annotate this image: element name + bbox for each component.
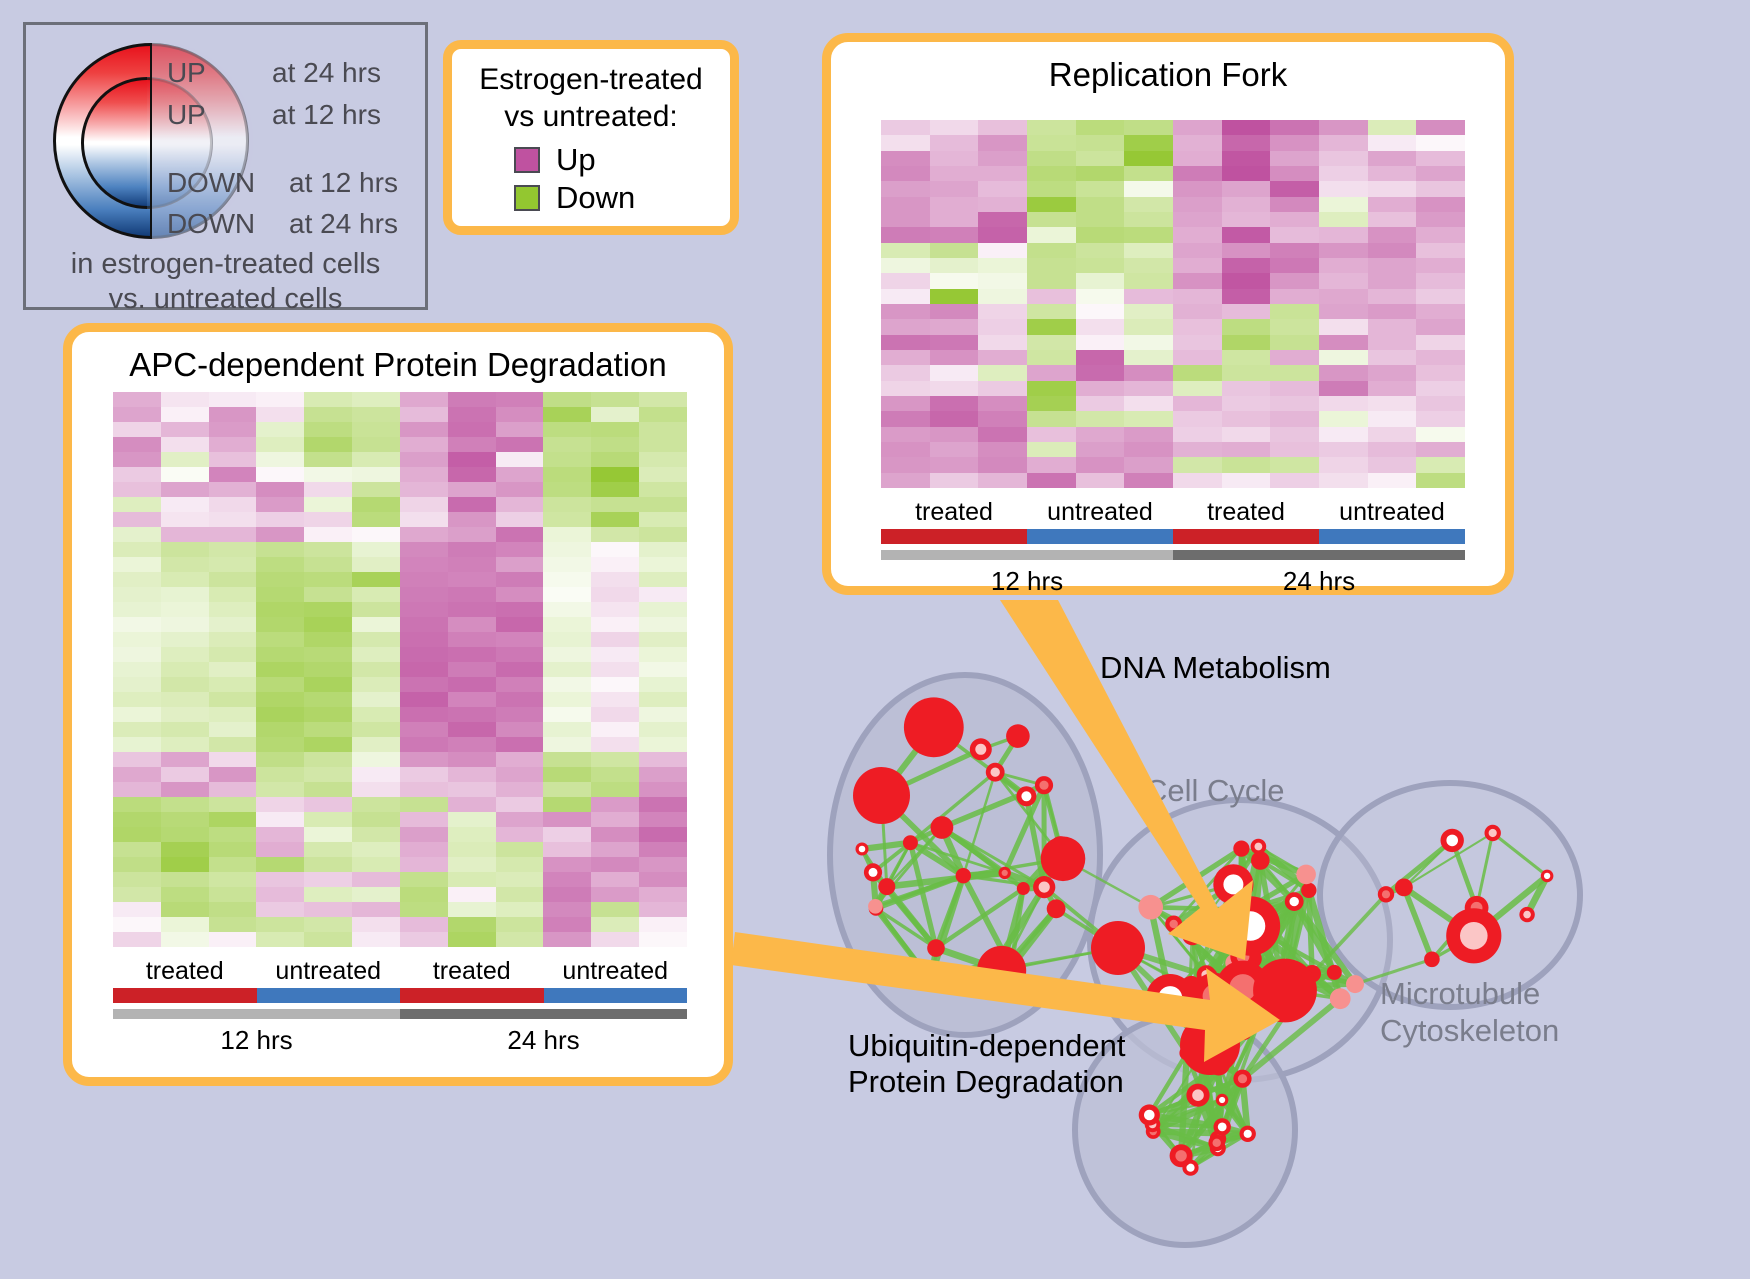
heatmap-cell [304,617,352,632]
heatmap-cell [448,647,496,662]
heatmap-cell [1027,319,1076,334]
heatmap-cell [1416,135,1465,150]
heatmap-cell [1173,457,1222,472]
heatmap-cell [1027,243,1076,258]
heatmap-cell [209,407,257,422]
heatmap-cell [1124,273,1173,288]
heatmap-cell [448,497,496,512]
network-node-core [975,744,986,755]
heatmap-cell [930,273,979,288]
heatmap-cell [304,557,352,572]
heatmap-cell [400,692,448,707]
heatmap-cell [256,437,304,452]
heatmap-cell [496,737,544,752]
heatmap-cell [209,512,257,527]
heatmap-cell [304,527,352,542]
heatmap-cell [496,887,544,902]
time-labels: 12 hrs 24 hrs [113,1025,687,1056]
heatmap-cell [1222,304,1271,319]
heatmap-cell [209,647,257,662]
network-node [1233,841,1249,857]
network-node [1138,895,1163,920]
bar-treated-12 [881,529,1027,544]
heatmap-cell [1027,335,1076,350]
heatmap-cell [352,422,400,437]
heatmap-cell [352,902,400,917]
heatmap-cell [978,365,1027,380]
heatmap-cell [1416,411,1465,426]
heatmap-cell [496,857,544,872]
network-node [1346,975,1364,993]
heatmap-cell [352,527,400,542]
network-node-core [1238,1074,1247,1083]
heatmap-cell [978,151,1027,166]
heatmap-cell [496,917,544,932]
heatmap-cell [639,482,687,497]
heatmap-cell [1173,473,1222,488]
heatmap-cell [930,166,979,181]
heatmap-cell [448,557,496,572]
heatmap-cell [543,692,591,707]
heatmap-cell [113,887,161,902]
heatmap-cell [1319,289,1368,304]
heatmap-cell [1319,243,1368,258]
heatmap-cell [400,722,448,737]
updown-title-line-2: vs untreated: [452,98,730,135]
heatmap-cell [1173,120,1222,135]
treatment-color-bar [881,529,1465,544]
heatmap-cell [1124,135,1173,150]
heatmap-cell [113,617,161,632]
heatmap-cell [591,482,639,497]
heatmap-cell [591,617,639,632]
heatmap-cell [304,602,352,617]
heatmap-cell [591,722,639,737]
heatmap-cell [1319,411,1368,426]
heatmap-cell [591,692,639,707]
heatmap-cell [256,512,304,527]
heatmap-cell [1124,227,1173,242]
heatmap-cell [881,381,930,396]
heatmap-cell [448,587,496,602]
heatmap-cell [1173,319,1222,334]
heatmap-cell [256,707,304,722]
heatmap-cell [496,692,544,707]
heatmap-cell [352,437,400,452]
heatmap-cell [591,857,639,872]
heatmap-cell [256,797,304,812]
heatmap-cell [1368,120,1417,135]
network-node [1006,724,1030,748]
heatmap-cell [1173,273,1222,288]
heatmap-cell [1076,335,1125,350]
heatmap-cell [1270,120,1319,135]
heatmap-cell [304,902,352,917]
heatmap-cell [1076,427,1125,442]
heatmap-cell [1416,289,1465,304]
heatmap-cell [1368,166,1417,181]
heatmap-cell [1416,151,1465,166]
heatmap-cell [448,602,496,617]
heatmap-cell [352,542,400,557]
heatmap-cell [639,812,687,827]
heatmap-cell [1368,289,1417,304]
heatmap-cell [639,392,687,407]
heatmap-cell [304,797,352,812]
heatmap-cell [448,722,496,737]
heatmap-cell [930,319,979,334]
group-label-treated-12: treated [113,957,257,986]
heatmap-cell [543,467,591,482]
heatmap-cell [113,752,161,767]
network-node [1041,837,1086,882]
time-color-bar [881,550,1465,560]
heatmap-cell [113,482,161,497]
heatmap-cell [591,557,639,572]
heatmap-cell [1319,442,1368,457]
bar-treated-24 [1173,529,1319,544]
heatmap-cell [496,782,544,797]
heatmap-cell [1270,319,1319,334]
network-node-core [1213,1139,1221,1147]
network-node-core [1021,791,1031,801]
heatmap-cell [543,392,591,407]
heatmap-cell [1270,151,1319,166]
heatmap-cell [209,722,257,737]
heatmap-cell [496,422,544,437]
heatmap-cell [400,527,448,542]
heatmap-cell [1076,319,1125,334]
network-node-core [859,846,866,853]
heatmap-cell [113,662,161,677]
heatmap-cell [352,497,400,512]
heatmap-cell [978,381,1027,396]
bar-time-24 [400,1009,687,1019]
heatmap-cell [256,542,304,557]
heatmap-cell [209,677,257,692]
heatmap-cell [496,767,544,782]
heatmap-cell [1222,411,1271,426]
heatmap-cell [1076,473,1125,488]
cluster-label-ubiquitin-dependent-protein-degradation: Ubiquitin-dependentProtein Degradation [848,1028,1126,1100]
heatmap-cell [639,722,687,737]
heatmap-cell [1270,473,1319,488]
heatmap-cell [1173,166,1222,181]
heatmap-cell [591,587,639,602]
heatmap-cell [1319,120,1368,135]
updown-title-line-1: Estrogen-treated [452,61,730,98]
heatmap-cell [978,289,1027,304]
panel-title-replication-fork: Replication Fork [831,56,1505,94]
bar-untreated-12 [1027,529,1173,544]
heatmap-cell [161,692,209,707]
heatmap-cell [400,647,448,662]
heatmap-cell [352,707,400,722]
heatmap-cell [639,857,687,872]
figure-root: UP at 24 hrs UP at 12 hrs DOWN at 12 hrs… [0,0,1750,1279]
heatmap-cell [1173,227,1222,242]
heatmap-cell [930,381,979,396]
heatmap-cell [591,872,639,887]
heatmap-cell [161,707,209,722]
group-label-untreated-24: untreated [1319,498,1465,527]
heatmap-apc [113,392,687,947]
heatmap-cell [113,812,161,827]
heatmap-cell [113,437,161,452]
heatmap-cell [978,457,1027,472]
heatmap-cell [400,392,448,407]
heatmap-cell [161,857,209,872]
heatmap-cell [1173,350,1222,365]
heatmap-cell [543,767,591,782]
heatmap-cell [881,457,930,472]
heatmap-cell [1416,427,1465,442]
heatmap-cell [591,392,639,407]
heatmap-cell [1368,243,1417,258]
heatmap-cell [161,527,209,542]
heatmap-cell [1173,442,1222,457]
heatmap-cell [930,151,979,166]
heatmap-cell [496,392,544,407]
heatmap-cell [1124,166,1173,181]
network-node-core [991,768,1000,777]
heatmap-cell [256,827,304,842]
heatmap-cell [256,647,304,662]
heatmap-cell [1270,135,1319,150]
heatmap-cell [161,677,209,692]
heatmap-cell [400,767,448,782]
heatmap-cell [591,842,639,857]
heatmap-cell [591,602,639,617]
heatmap-cell [1173,151,1222,166]
heatmap-cell [161,767,209,782]
network-node [927,939,945,957]
heatmap-cell [496,482,544,497]
heatmap-cell [543,902,591,917]
heatmap-cell [1124,319,1173,334]
heatmap-cell [496,542,544,557]
heatmap-cell [1173,181,1222,196]
heatmap-cell [113,452,161,467]
heatmap-cell [352,857,400,872]
scale-label-up-12: UP [167,99,206,131]
heatmap-cell [930,289,979,304]
heatmap-cell [400,917,448,932]
heatmap-cell [496,932,544,947]
legend-item-down: Down [514,179,730,217]
heatmap-cell [209,887,257,902]
heatmap-cell [256,497,304,512]
color-scale-legend: UP at 24 hrs UP at 12 hrs DOWN at 12 hrs… [23,22,428,310]
heatmap-cell [1124,151,1173,166]
heatmap-cell [591,512,639,527]
network-node [1091,921,1145,975]
heatmap-cell [352,842,400,857]
heatmap-cell [881,273,930,288]
heatmap-cell [113,872,161,887]
heatmap-cell [448,662,496,677]
heatmap-cell [978,319,1027,334]
network-node-core [1523,911,1531,919]
heatmap-cell [591,677,639,692]
heatmap-cell [1124,181,1173,196]
heatmap-cell [881,135,930,150]
heatmap-cell [256,482,304,497]
heatmap-cell [1368,273,1417,288]
network-node [878,878,895,895]
heatmap-cell [256,587,304,602]
heatmap-cell [448,857,496,872]
heatmap-cell [113,407,161,422]
heatmap-cell [543,407,591,422]
heatmap-cell [1368,227,1417,242]
heatmap-cell [1124,427,1173,442]
heatmap-cell [591,467,639,482]
heatmap-cell [161,482,209,497]
heatmap-cell [1027,289,1076,304]
heatmap-cell [881,427,930,442]
heatmap-cell [448,827,496,842]
heatmap-cell [352,587,400,602]
heatmap-cell [930,365,979,380]
heatmap-cell [209,752,257,767]
heatmap-cell [543,872,591,887]
heatmap-cell [639,587,687,602]
heatmap-cell [352,887,400,902]
heatmap-cell [209,872,257,887]
heatmap-cell [161,647,209,662]
heatmap-cell [1416,212,1465,227]
heatmap-cell [1124,212,1173,227]
heatmap-cell [113,557,161,572]
heatmap-cell [1416,166,1465,181]
heatmap-cell [639,452,687,467]
heatmap-cell [1416,120,1465,135]
heatmap-cell [1368,396,1417,411]
axis-apc: treated untreated treated untreated 12 h… [113,957,687,1056]
heatmap-cell [978,243,1027,258]
network-node-core [1244,1130,1252,1138]
heatmap-cell [1222,289,1271,304]
heatmap-cell [543,932,591,947]
heatmap-cell [591,662,639,677]
heatmap-cell [1319,258,1368,273]
heatmap-cell [1368,350,1417,365]
heatmap-cell [304,542,352,557]
heatmap-cell [400,467,448,482]
heatmap-cell [978,212,1027,227]
heatmap-cell [1076,304,1125,319]
heatmap-cell [978,197,1027,212]
heatmap-cell [1124,473,1173,488]
heatmap-cell [978,258,1027,273]
heatmap-cell [448,797,496,812]
bar-untreated-24 [544,988,688,1003]
heatmap-cell [209,692,257,707]
down-label: Down [556,180,635,216]
heatmap-cell [209,437,257,452]
heatmap-cell [448,437,496,452]
heatmap-cell [161,557,209,572]
heatmap-cell [400,497,448,512]
heatmap-cell [161,632,209,647]
heatmap-cell [1076,243,1125,258]
heatmap-cell [209,422,257,437]
heatmap-cell [304,632,352,647]
heatmap-cell [930,197,979,212]
heatmap-cell [496,827,544,842]
heatmap-cell [209,827,257,842]
heatmap-cell [400,677,448,692]
heatmap-cell [639,932,687,947]
heatmap-cell [496,437,544,452]
heatmap-cell [209,557,257,572]
heatmap-cell [352,737,400,752]
heatmap-cell [591,647,639,662]
heatmap-cell [256,752,304,767]
network-node [904,697,964,757]
heatmap-cell [978,135,1027,150]
heatmap-cell [496,407,544,422]
heatmap-cell [113,647,161,662]
heatmap-cell [256,932,304,947]
cluster-label-cell-cycle: Cell Cycle [1145,772,1285,809]
heatmap-cell [1124,381,1173,396]
color-scale-footer: in estrogen-treated cells vs. untreated … [26,247,425,317]
heatmap-cell [639,902,687,917]
heatmap-cell [496,722,544,737]
heatmap-cell [448,392,496,407]
heatmap-cell [304,827,352,842]
heatmap-cell [209,527,257,542]
heatmap-cell [1222,335,1271,350]
network-node-core [1002,870,1008,876]
group-label-treated-24: treated [400,957,544,986]
network-node [1330,988,1351,1009]
heatmap-grid [113,392,687,947]
heatmap-cell [256,677,304,692]
heatmap-cell [930,473,979,488]
network-node [920,969,941,990]
heatmap-cell [543,737,591,752]
heatmap-cell [1270,350,1319,365]
heatmap-cell [352,752,400,767]
time-color-bar [113,1009,687,1019]
heatmap-cell [113,797,161,812]
heatmap-cell [1416,381,1465,396]
heatmap-cell [304,887,352,902]
group-labels: treated untreated treated untreated [113,957,687,986]
network-node-core [1192,1089,1204,1101]
heatmap-cell [113,857,161,872]
network-node-core [1236,911,1266,941]
heatmap-cell [400,617,448,632]
heatmap-cell [881,335,930,350]
heatmap-cell [1124,304,1173,319]
heatmap-cell [161,842,209,857]
heatmap-cell [352,452,400,467]
axis-replication-fork: treated untreated treated untreated 12 h… [881,498,1465,597]
heatmap-cell [352,512,400,527]
network-node [1301,883,1316,898]
heatmap-cell [543,452,591,467]
heatmap-cell [1319,166,1368,181]
heatmap-cell [1124,289,1173,304]
heatmap-cell [1027,151,1076,166]
heatmap-cell [1173,335,1222,350]
network-node-core [1544,873,1550,879]
heatmap-cell [1222,151,1271,166]
